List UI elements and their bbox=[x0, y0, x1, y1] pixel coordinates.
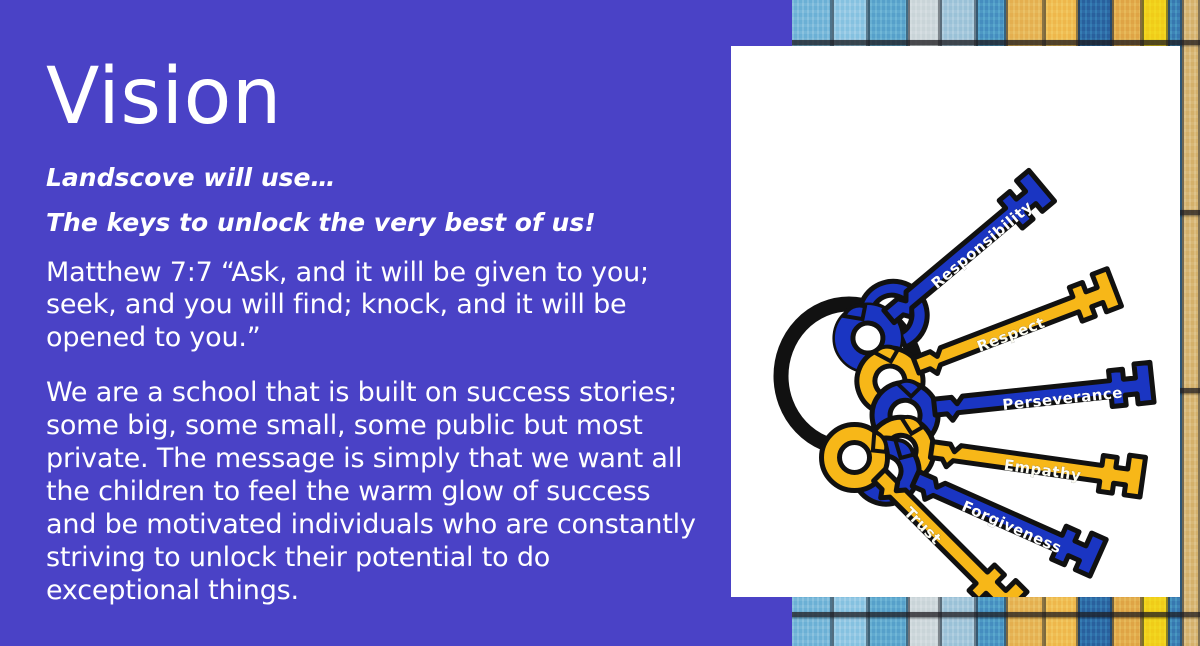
subtitle-line-2: The keys to unlock the very best of us! bbox=[46, 207, 706, 238]
page-title: Vision bbox=[46, 0, 706, 136]
body-text: We are a school that is built on success… bbox=[46, 377, 706, 608]
vision-slide: Vision Landscove will use… The keys to u… bbox=[0, 0, 1200, 646]
plank bbox=[1182, 0, 1200, 646]
key-label-responsibility: Responsibility bbox=[928, 197, 1037, 292]
keyring-illustration: Responsibility Respect Perseverance bbox=[731, 46, 1180, 597]
keys-image-card: Responsibility Respect Perseverance bbox=[731, 46, 1180, 597]
subtitle-line-1: Landscove will use… bbox=[46, 162, 706, 193]
purple-panel: Vision Landscove will use… The keys to u… bbox=[0, 0, 792, 646]
plank-seam bbox=[790, 612, 1200, 617]
scripture-text: Matthew 7:7 “Ask, and it will be given t… bbox=[46, 257, 706, 356]
plank-seam bbox=[790, 40, 1200, 45]
text-column: Vision Landscove will use… The keys to u… bbox=[46, 0, 706, 608]
